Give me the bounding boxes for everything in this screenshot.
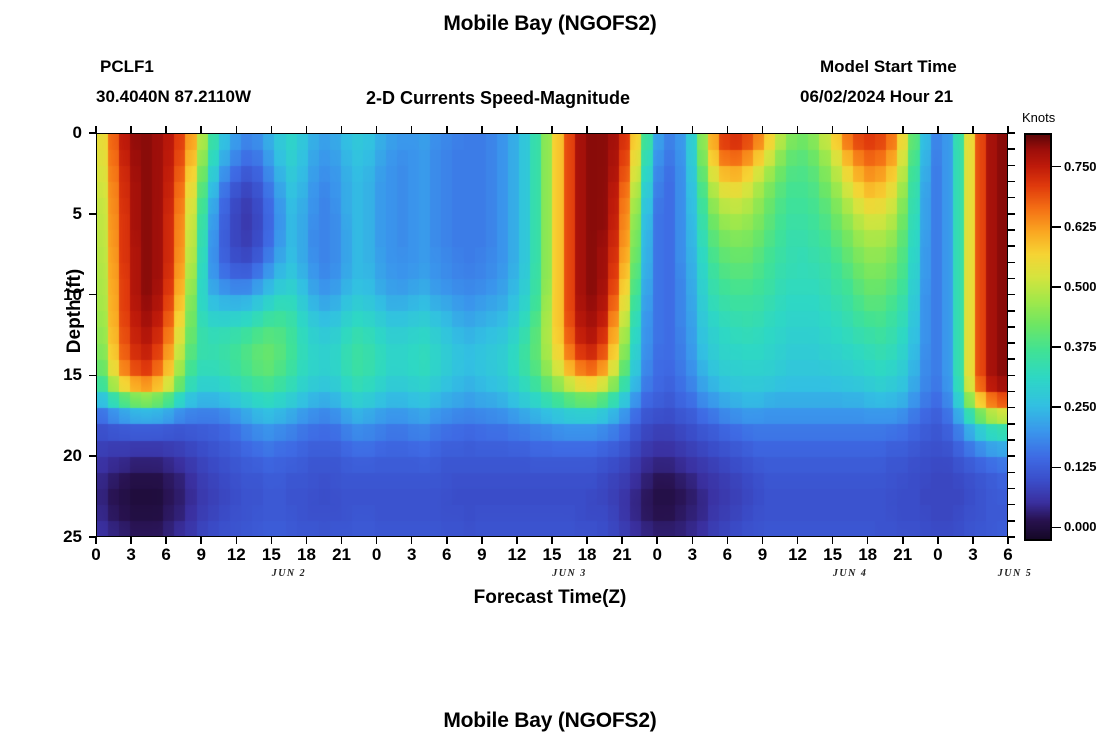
x-tick-mark [516, 537, 518, 544]
x-tick-label: 21 [883, 545, 923, 565]
y-minor-tick-mark [1008, 132, 1015, 134]
day-label: JUN 4 [805, 568, 895, 579]
x-tick-mark-top [937, 126, 939, 133]
x-tick-mark-top [411, 126, 413, 133]
x-tick-mark-top [551, 126, 553, 133]
x-tick-mark-top [236, 126, 238, 133]
x-tick-mark [376, 537, 378, 544]
x-tick-label: 6 [427, 545, 467, 565]
y-minor-tick-mark [1008, 455, 1015, 457]
y-minor-tick-mark [1008, 148, 1015, 150]
x-tick-mark-top [621, 126, 623, 133]
x-tick-mark [656, 537, 658, 544]
x-tick-mark [832, 537, 834, 544]
colorbar-tick-mark [1050, 166, 1061, 168]
x-tick-label: 15 [251, 545, 291, 565]
y-minor-tick-mark [1008, 181, 1015, 183]
x-tick-label: 18 [567, 545, 607, 565]
x-tick-mark [551, 537, 553, 544]
model-start-time-value: 06/02/2024 Hour 21 [800, 87, 953, 107]
x-tick-mark [727, 537, 729, 544]
y-axis-title: Depth (ft) [64, 231, 86, 391]
x-tick-mark-top [832, 126, 834, 133]
y-minor-tick-mark [1008, 294, 1015, 296]
x-tick-label: 9 [181, 545, 221, 565]
x-axis-title: Forecast Time(Z) [0, 587, 1100, 609]
colorbar-tick-label: 0.375 [1064, 339, 1097, 354]
x-tick-mark-top [446, 126, 448, 133]
y-tick-label: 20 [42, 446, 82, 466]
x-tick-label: 15 [532, 545, 572, 565]
x-tick-label: 6 [707, 545, 747, 565]
station-id: PCLF1 [100, 57, 154, 77]
y-tick-mark [89, 294, 96, 296]
x-tick-mark [411, 537, 413, 544]
y-tick-mark [89, 455, 96, 457]
x-tick-mark-top [130, 126, 132, 133]
x-tick-label: 18 [286, 545, 326, 565]
x-tick-label: 9 [462, 545, 502, 565]
y-minor-tick-mark [1008, 262, 1015, 264]
y-minor-tick-mark [1008, 229, 1015, 231]
x-tick-label: 3 [111, 545, 151, 565]
colorbar-tick-mark [1050, 226, 1061, 228]
y-minor-tick-mark [1008, 310, 1015, 312]
x-tick-mark [271, 537, 273, 544]
colorbar-tick-mark [1050, 467, 1061, 469]
x-tick-label: 12 [216, 545, 256, 565]
x-tick-mark [95, 537, 97, 544]
x-tick-label: 3 [672, 545, 712, 565]
y-minor-tick-mark [1008, 358, 1015, 360]
y-minor-tick-mark [1008, 197, 1015, 199]
x-tick-mark-top [867, 126, 869, 133]
y-tick-mark [89, 213, 96, 215]
colorbar-tick-label: 0.000 [1064, 519, 1097, 534]
x-tick-mark-top [306, 126, 308, 133]
x-tick-mark [586, 537, 588, 544]
x-tick-mark [902, 537, 904, 544]
x-tick-mark [200, 537, 202, 544]
y-minor-tick-mark [1008, 536, 1015, 538]
x-tick-mark [972, 537, 974, 544]
x-tick-mark-top [762, 126, 764, 133]
x-tick-mark-top [586, 126, 588, 133]
y-minor-tick-mark [1008, 472, 1015, 474]
x-tick-mark-top [797, 126, 799, 133]
model-start-time-label: Model Start Time [820, 57, 957, 77]
chart-subtitle: 2-D Currents Speed-Magnitude [366, 88, 630, 109]
day-label: JUN 3 [525, 568, 615, 579]
x-tick-mark [341, 537, 343, 544]
x-tick-mark-top [656, 126, 658, 133]
y-minor-tick-mark [1008, 407, 1015, 409]
x-tick-mark [1007, 537, 1009, 544]
heatmap-plot [96, 133, 1008, 537]
x-tick-label: 0 [637, 545, 677, 565]
colorbar-tick-label: 0.125 [1064, 459, 1097, 474]
colorbar-gradient [1024, 133, 1052, 541]
x-tick-mark [937, 537, 939, 544]
y-minor-tick-mark [1008, 439, 1015, 441]
colorbar-tick-label: 0.250 [1064, 399, 1097, 414]
day-label: JUN 2 [244, 568, 334, 579]
x-tick-label: 3 [392, 545, 432, 565]
x-tick-mark [236, 537, 238, 544]
x-tick-label: 15 [813, 545, 853, 565]
x-tick-mark-top [902, 126, 904, 133]
x-tick-label: 0 [357, 545, 397, 565]
x-tick-mark [797, 537, 799, 544]
page-title-top: Mobile Bay (NGOFS2) [0, 12, 1100, 36]
station-coordinates: 30.4040N 87.2110W [96, 87, 251, 107]
colorbar-tick-label: 0.500 [1064, 279, 1097, 294]
x-tick-label: 12 [778, 545, 818, 565]
x-tick-mark [867, 537, 869, 544]
x-tick-label: 0 [918, 545, 958, 565]
x-tick-mark-top [271, 126, 273, 133]
y-minor-tick-mark [1008, 520, 1015, 522]
x-tick-mark [165, 537, 167, 544]
x-tick-label: 6 [988, 545, 1028, 565]
y-tick-mark [89, 132, 96, 134]
x-tick-label: 21 [602, 545, 642, 565]
x-tick-mark [762, 537, 764, 544]
y-minor-tick-mark [1008, 342, 1015, 344]
x-tick-label: 18 [848, 545, 888, 565]
x-tick-mark [621, 537, 623, 544]
x-tick-label: 3 [953, 545, 993, 565]
heatmap-canvas [96, 133, 1008, 537]
x-tick-mark-top [376, 126, 378, 133]
y-tick-mark [89, 375, 96, 377]
x-tick-mark [481, 537, 483, 544]
day-label: JUN 5 [970, 568, 1060, 579]
x-tick-mark [692, 537, 694, 544]
y-minor-tick-mark [1008, 245, 1015, 247]
y-minor-tick-mark [1008, 213, 1015, 215]
x-tick-label: 21 [322, 545, 362, 565]
x-tick-mark-top [341, 126, 343, 133]
y-tick-label: 0 [42, 123, 82, 143]
y-minor-tick-mark [1008, 488, 1015, 490]
x-tick-mark-top [727, 126, 729, 133]
y-minor-tick-mark [1008, 326, 1015, 328]
y-tick-label: 25 [42, 527, 82, 547]
colorbar-tick-mark [1050, 346, 1061, 348]
colorbar-tick-mark [1050, 527, 1061, 529]
colorbar-tick-mark [1050, 286, 1061, 288]
colorbar-tick-label: 0.625 [1064, 219, 1097, 234]
y-tick-mark [89, 536, 96, 538]
y-minor-tick-mark [1008, 391, 1015, 393]
y-minor-tick-mark [1008, 165, 1015, 167]
x-tick-mark-top [200, 126, 202, 133]
colorbar-tick-label: 0.750 [1064, 159, 1097, 174]
x-tick-mark-top [165, 126, 167, 133]
colorbar-tick-mark [1050, 406, 1061, 408]
y-minor-tick-mark [1008, 504, 1015, 506]
x-tick-label: 6 [146, 545, 186, 565]
page-title-bottom: Mobile Bay (NGOFS2) [0, 709, 1100, 733]
y-minor-tick-mark [1008, 375, 1015, 377]
y-tick-label: 5 [42, 204, 82, 224]
x-tick-label: 0 [76, 545, 116, 565]
y-minor-tick-mark [1008, 423, 1015, 425]
x-tick-mark-top [516, 126, 518, 133]
colorbar-units-label: Knots [1022, 110, 1055, 125]
x-tick-mark-top [972, 126, 974, 133]
x-tick-label: 12 [497, 545, 537, 565]
x-tick-mark-top [481, 126, 483, 133]
x-tick-mark [130, 537, 132, 544]
x-tick-label: 9 [742, 545, 782, 565]
x-tick-mark [446, 537, 448, 544]
x-tick-mark-top [692, 126, 694, 133]
y-minor-tick-mark [1008, 278, 1015, 280]
x-tick-mark [306, 537, 308, 544]
